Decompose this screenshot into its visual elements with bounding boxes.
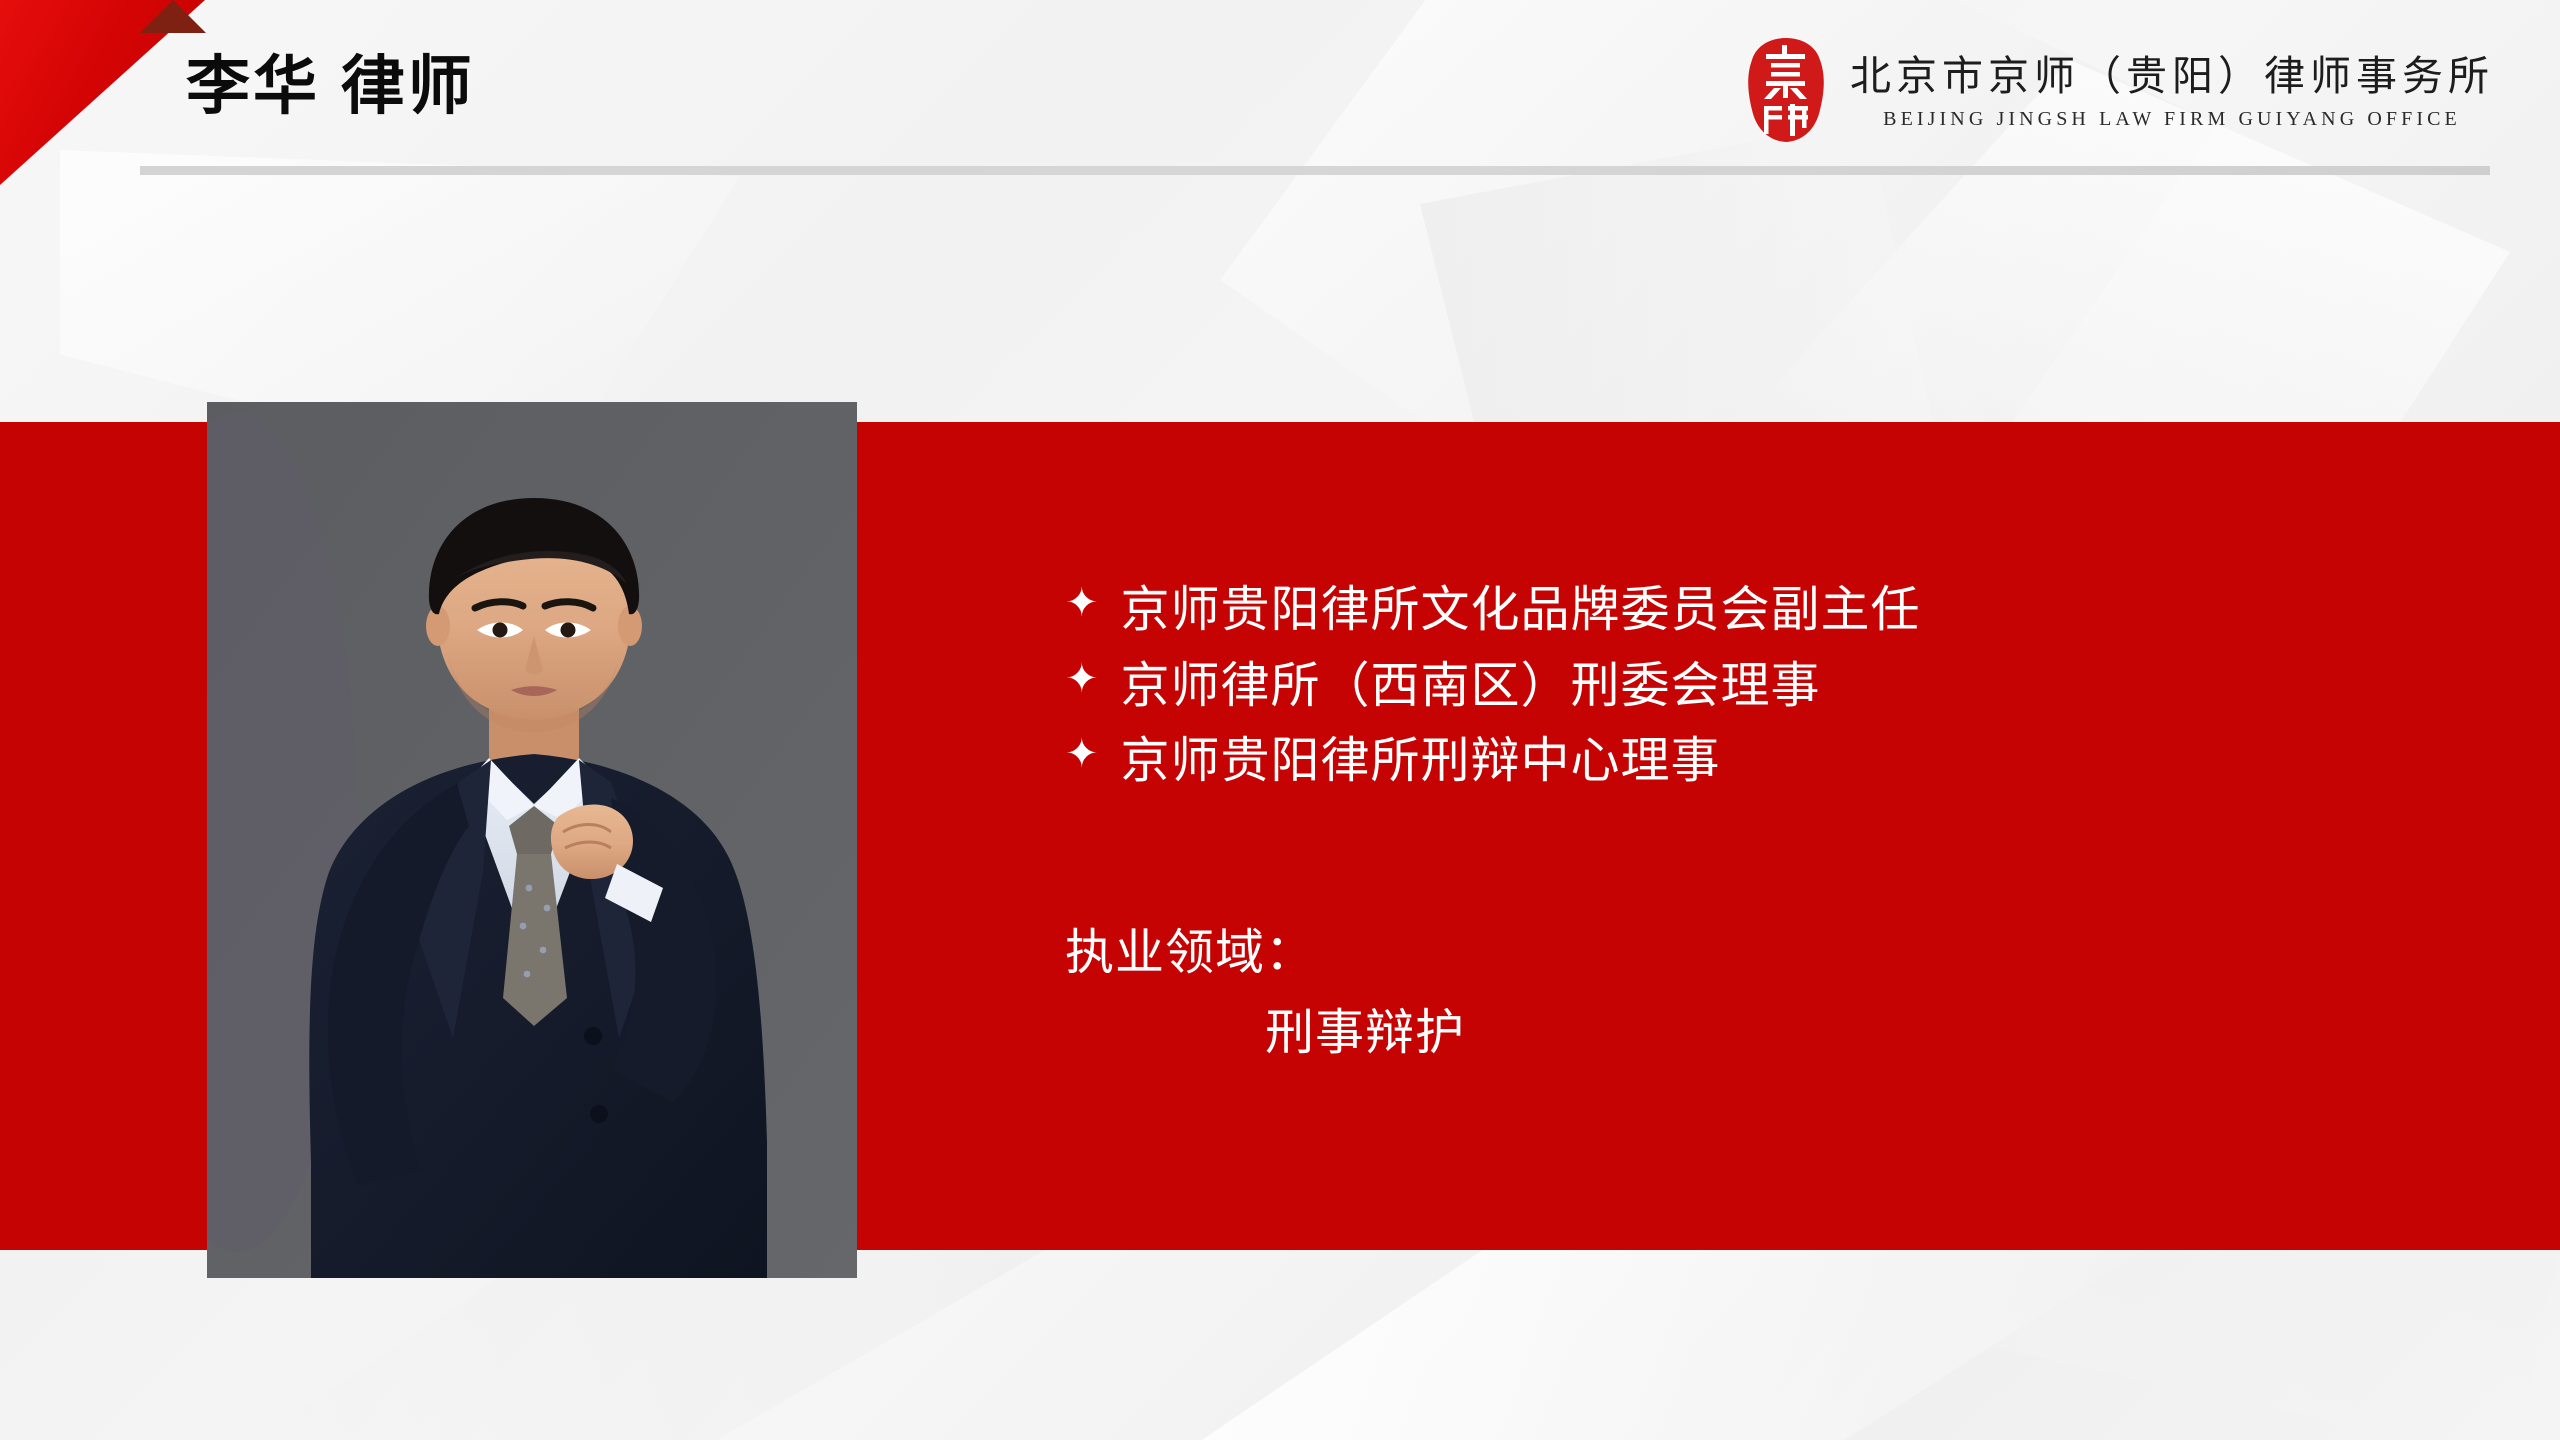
- deco-polygon-5: [1150, 1245, 2150, 1440]
- list-item: ✦ 京师贵阳律所文化品牌委员会副主任: [1065, 575, 2405, 645]
- credential-text: 京师贵阳律所文化品牌委员会副主任: [1121, 575, 1921, 645]
- practice-area-item: 刑事辩护: [1065, 1000, 2405, 1066]
- diamond-bullet-icon: ✦: [1065, 651, 1099, 708]
- credential-text: 京师贵阳律所刑辩中心理事: [1121, 726, 1721, 796]
- firm-name-en: BEIJING JINGSH LAW FIRM GUIYANG OFFICE: [1883, 108, 2461, 131]
- credential-text: 京师律所（西南区）刑委会理事: [1121, 651, 1821, 721]
- firm-name-cn: 北京市京师（贵阳）律师事务所: [1850, 53, 2494, 100]
- diamond-bullet-icon: ✦: [1065, 575, 1099, 632]
- title-divider: [140, 166, 2490, 175]
- lawyer-portrait-photo: [207, 402, 857, 1278]
- list-item: ✦ 京师律所（西南区）刑委会理事: [1065, 651, 2405, 721]
- credentials-list: ✦ 京师贵阳律所文化品牌委员会副主任 ✦ 京师律所（西南区）刑委会理事 ✦ 京师…: [1065, 575, 2405, 796]
- jingsh-seal-icon: [1740, 36, 1832, 144]
- diamond-bullet-icon: ✦: [1065, 726, 1099, 783]
- portrait-figure: [207, 402, 857, 1278]
- firm-name-block: 北京市京师（贵阳）律师事务所 BEIJING JINGSH LAW FIRM G…: [1850, 49, 2494, 130]
- slide: 李华 律师: [0, 0, 2560, 1440]
- list-item: ✦ 京师贵阳律所刑辩中心理事: [1065, 726, 2405, 796]
- practice-areas-block: 执业领域： 刑事辩护: [1065, 920, 2405, 1066]
- firm-logo: 北京市京师（贵阳）律师事务所 BEIJING JINGSH LAW FIRM G…: [1740, 36, 2494, 144]
- practice-areas-label: 执业领域：: [1065, 920, 2405, 986]
- lawyer-info-block: ✦ 京师贵阳律所文化品牌委员会副主任 ✦ 京师律所（西南区）刑委会理事 ✦ 京师…: [1065, 575, 2405, 1066]
- slide-header: 李华 律师: [0, 0, 2560, 200]
- page-title: 李华 律师: [186, 48, 475, 125]
